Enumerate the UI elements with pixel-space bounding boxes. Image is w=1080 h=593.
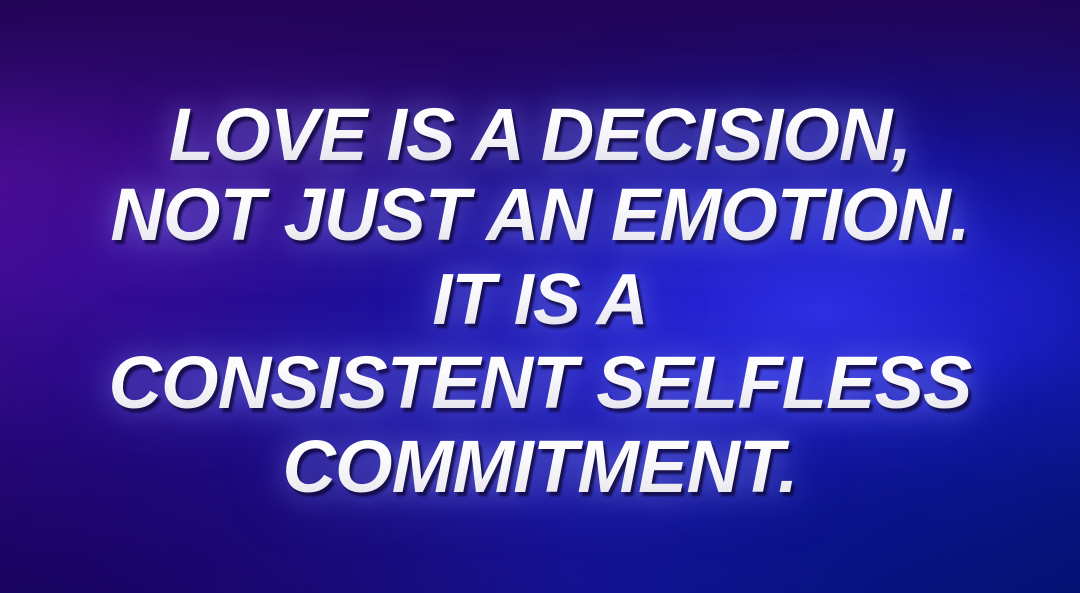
quote-line-3: IT IS A [0, 264, 1080, 336]
quote-line-5: COMMITMENT. [0, 430, 1080, 504]
quote-line-2: NOT JUST AN EMOTION. [0, 178, 1080, 252]
quote-line-4: CONSISTENT SELFLESS [0, 346, 1080, 420]
quote-poster: LOVE IS A DECISION, NOT JUST AN EMOTION.… [0, 0, 1080, 593]
quote-text-block: LOVE IS A DECISION, NOT JUST AN EMOTION.… [0, 98, 1080, 504]
quote-line-1: LOVE IS A DECISION, [0, 98, 1080, 172]
